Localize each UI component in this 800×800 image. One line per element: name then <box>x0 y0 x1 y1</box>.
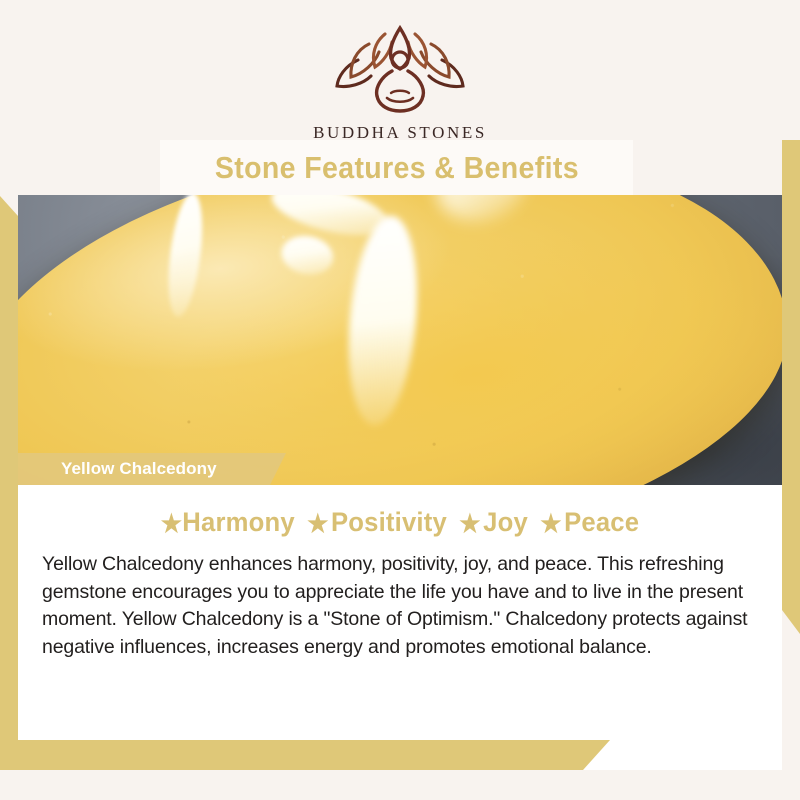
star-icon: ★ <box>307 509 328 539</box>
lotus-meditating-figure-icon <box>325 22 475 119</box>
header: BUDDHA STONES <box>0 0 800 140</box>
title-banner: Stone Features & Benefits <box>160 140 633 195</box>
star-icon: ★ <box>459 509 480 539</box>
keyword-harmony: Harmony <box>182 507 295 538</box>
page-title: Stone Features & Benefits <box>214 150 578 186</box>
content-panel: ★Harmony★ Positivity★ Joy★ Peace Yellow … <box>18 485 782 770</box>
photo-caption-band: Yellow Chalcedony <box>18 453 286 485</box>
star-icon: ★ <box>161 509 182 539</box>
keyword-peace: Peace <box>564 507 639 538</box>
keyword-positivity: Positivity <box>331 507 447 538</box>
star-icon: ★ <box>540 509 561 539</box>
stone-photo <box>18 195 782 485</box>
photo-caption-label: Yellow Chalcedony <box>61 459 217 479</box>
keyword-joy: Joy <box>483 507 528 538</box>
brand-logo: BUDDHA STONES <box>313 22 487 143</box>
infographic-card: BUDDHA STONES Stone Features & Benefits … <box>0 0 800 800</box>
frame-accent-left <box>0 196 18 770</box>
footer-spacer <box>18 770 782 800</box>
yellow-chalcedony-stone <box>18 195 782 485</box>
keyword-list: ★Harmony★ Positivity★ Joy★ Peace <box>37 507 763 539</box>
description-paragraph: Yellow Chalcedony enhances harmony, posi… <box>42 551 758 662</box>
